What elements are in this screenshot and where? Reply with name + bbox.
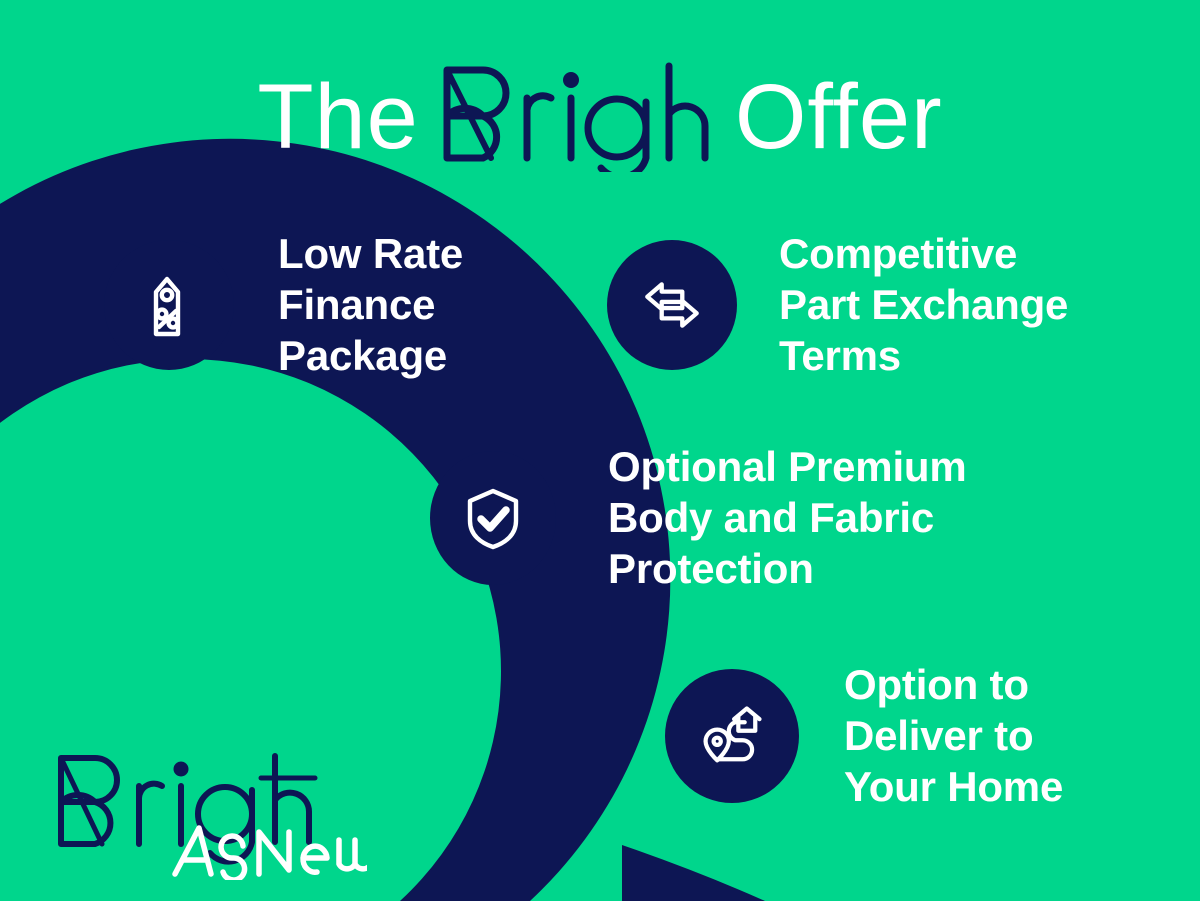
logo-asnew-w — [339, 840, 367, 869]
feature-label-line: Deliver to — [844, 710, 1063, 761]
feature-icon-circle — [104, 240, 234, 370]
title-trail-word: Offer — [735, 66, 943, 168]
feature-low-rate-finance: Low Rate Finance Package — [104, 228, 463, 381]
feature-label-line: Finance — [278, 279, 463, 330]
feature-part-exchange: Competitive Part Exchange Terms — [607, 228, 1068, 381]
exchange-arrows-icon — [636, 269, 708, 341]
feature-label-line: Part Exchange — [779, 279, 1068, 330]
feature-icon-circle — [665, 669, 799, 803]
bright-offer-poster: The O — [0, 0, 1200, 901]
feature-icon-circle — [430, 451, 556, 585]
feature-label-line: Your Home — [844, 761, 1063, 812]
feature-label-line: Terms — [779, 330, 1068, 381]
navy-wedge-shape — [622, 845, 765, 901]
logo-asnew-e — [303, 846, 327, 872]
feature-label-line: Option to — [844, 659, 1063, 710]
feature-label-line: Body and Fabric — [608, 492, 967, 543]
feature-label-line: Competitive — [779, 228, 1068, 279]
page-title: The O — [0, 62, 1200, 172]
brand-i-dot — [563, 72, 579, 88]
feature-label: Option to Deliver to Your Home — [844, 659, 1063, 812]
logo-i-dot — [174, 762, 189, 777]
delivery-route-home-icon — [695, 699, 769, 773]
title-brand-wordmark — [431, 62, 723, 172]
feature-icon-circle — [607, 240, 737, 370]
feature-label: Low Rate Finance Package — [278, 228, 463, 381]
price-tag-percent-icon — [134, 270, 204, 340]
feature-label: Competitive Part Exchange Terms — [779, 228, 1068, 381]
feature-label-line: Optional Premium — [608, 441, 967, 492]
feature-label-line: Low Rate — [278, 228, 463, 279]
feature-body-fabric-protection: Optional Premium Body and Fabric Protect… — [430, 441, 967, 594]
shield-check-icon — [458, 483, 528, 553]
feature-label: Optional Premium Body and Fabric Protect… — [608, 441, 967, 594]
feature-label-line: Protection — [608, 543, 967, 594]
feature-label-line: Package — [278, 330, 463, 381]
feature-home-delivery: Option to Deliver to Your Home — [665, 659, 1063, 812]
brand-logo-bright-as-new — [47, 748, 367, 880]
title-lead-word: The — [257, 66, 419, 168]
